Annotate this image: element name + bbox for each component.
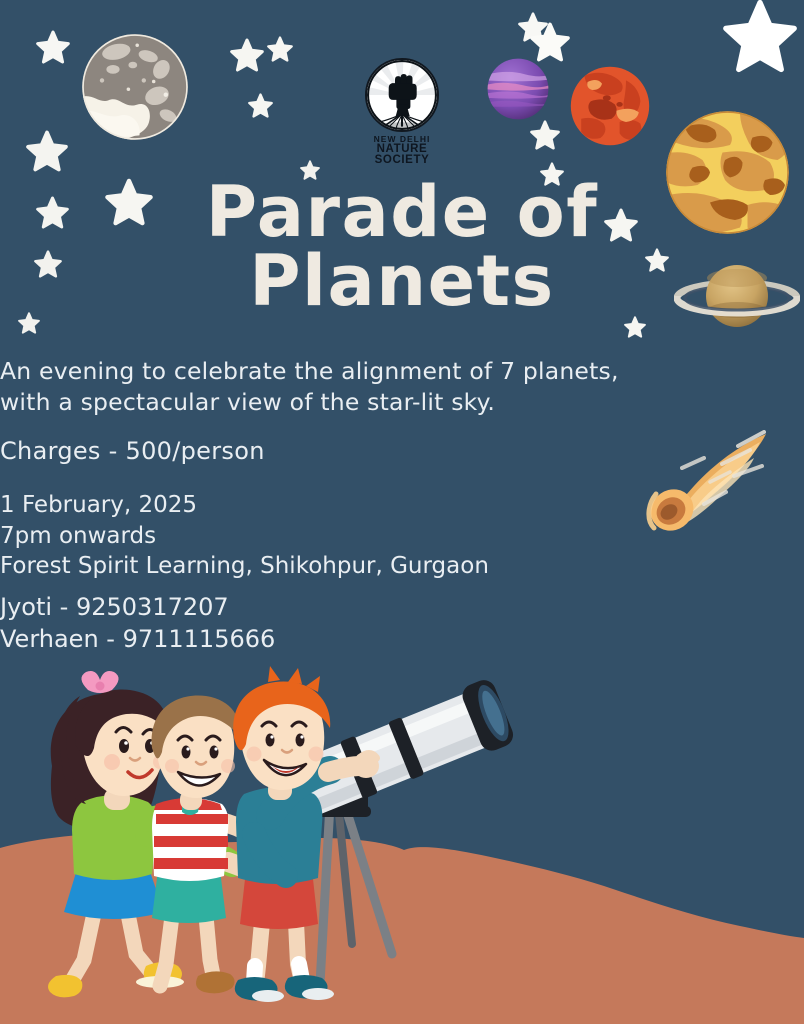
star-icon xyxy=(530,22,570,62)
star-icon xyxy=(645,248,669,272)
star-icon xyxy=(604,208,638,242)
star-icon xyxy=(26,130,68,172)
contact-list: Jyoti - 9250317207 Verhaen - 9711115666 xyxy=(0,592,804,656)
star-icon xyxy=(267,36,293,62)
contact-verhaen: Verhaen - 9711115666 xyxy=(0,624,804,656)
raised-fist-with-tree-roots-icon xyxy=(365,58,439,132)
star-icon xyxy=(722,0,798,74)
star-icon xyxy=(34,250,62,278)
star-icon xyxy=(300,160,320,180)
jupiter-planet-icon xyxy=(665,110,790,235)
star-icon xyxy=(36,196,69,229)
child-boy-striped xyxy=(152,695,241,993)
organization-logo: NEW DELHI NATURE SOCIETY xyxy=(360,58,444,167)
event-venue: Forest Spirit Learning, Shikohpur, Gurga… xyxy=(0,551,804,582)
red-planet-icon xyxy=(570,66,650,146)
star-icon xyxy=(530,120,560,150)
star-icon xyxy=(248,93,273,118)
poster-canvas: NEW DELHI NATURE SOCIETY Parade of Plane… xyxy=(0,0,804,1024)
event-subtitle: An evening to celebrate the alignment of… xyxy=(0,356,804,417)
purple-planet-icon xyxy=(487,58,549,120)
contact-jyoti: Jyoti - 9250317207 xyxy=(0,592,804,624)
subtitle-line-2: with a spectacular view of the star-lit … xyxy=(0,387,804,418)
moon-icon xyxy=(80,32,190,142)
star-icon xyxy=(36,30,70,64)
subtitle-line-1: An evening to celebrate the alignment of… xyxy=(0,356,804,387)
three-children-with-telescope-illustration xyxy=(0,654,560,1024)
star-icon xyxy=(624,316,646,338)
logo-wordmark: NEW DELHI NATURE SOCIETY xyxy=(360,135,444,167)
star-icon xyxy=(230,38,264,72)
logo-line-3: SOCIETY xyxy=(360,155,444,167)
star-icon xyxy=(540,162,564,186)
saturn-planet-icon xyxy=(674,248,800,344)
star-icon xyxy=(18,312,40,334)
comet-icon xyxy=(638,428,774,536)
star-icon xyxy=(105,178,153,226)
